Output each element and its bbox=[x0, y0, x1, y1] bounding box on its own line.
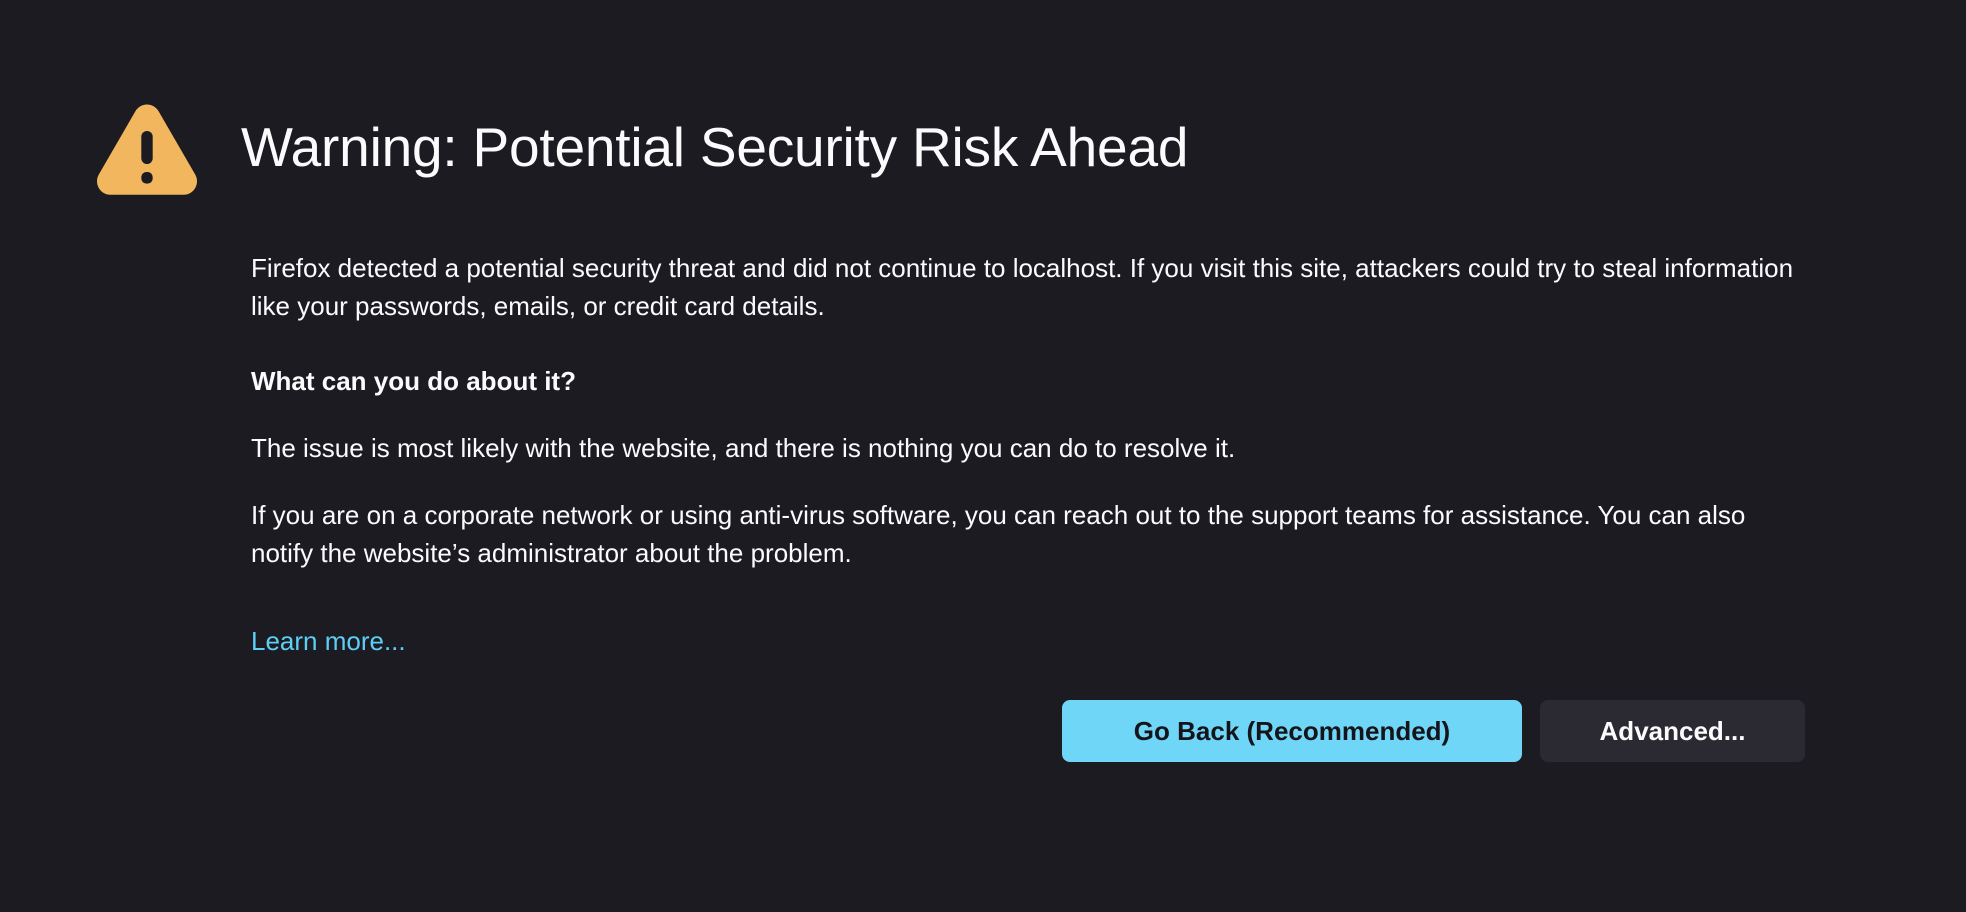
error-page: Warning: Potential Security Risk Ahead F… bbox=[0, 0, 1966, 912]
support-paragraph: If you are on a corporate network or usi… bbox=[251, 497, 1801, 572]
what-can-you-do-heading: What can you do about it? bbox=[251, 363, 1801, 399]
advanced-button[interactable]: Advanced... bbox=[1540, 700, 1805, 762]
learn-more-link[interactable]: Learn more... bbox=[251, 625, 406, 659]
page-title: Warning: Potential Security Risk Ahead bbox=[241, 119, 1188, 177]
action-button-row: Go Back (Recommended) Advanced... bbox=[1062, 700, 1805, 762]
intro-paragraph: Firefox detected a potential security th… bbox=[251, 250, 1801, 325]
warning-triangle-icon bbox=[95, 96, 199, 200]
page-header: Warning: Potential Security Risk Ahead bbox=[95, 96, 1188, 200]
error-content: Firefox detected a potential security th… bbox=[251, 250, 1801, 659]
resolution-paragraph: The issue is most likely with the websit… bbox=[251, 430, 1801, 468]
go-back-button[interactable]: Go Back (Recommended) bbox=[1062, 700, 1522, 762]
